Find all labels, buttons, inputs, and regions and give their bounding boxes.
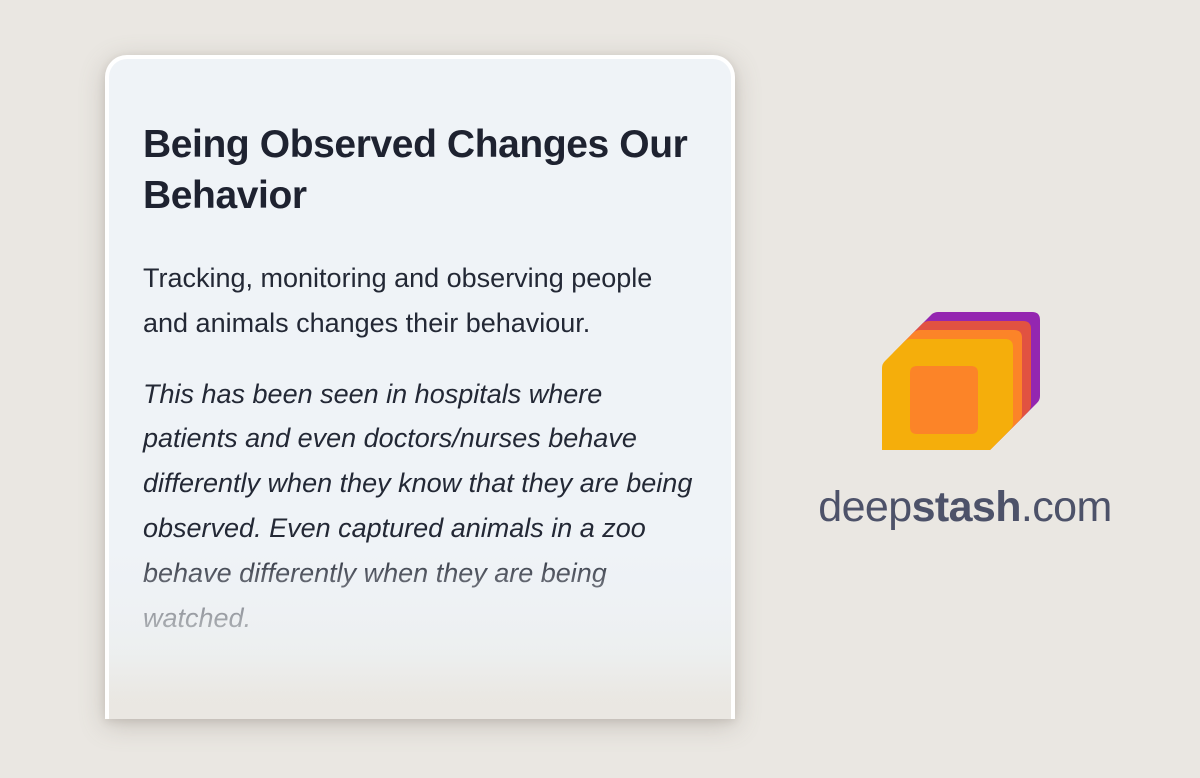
card-summary-text: Tracking, monitoring and observing peopl…	[143, 256, 688, 346]
stash-card[interactable]: Being Observed Changes Our Behavior Trac…	[105, 55, 735, 719]
card-title: Being Observed Changes Our Behavior	[143, 119, 693, 222]
wordmark-stash: stash	[912, 483, 1021, 531]
brand-block: deepstash.com	[800, 300, 1130, 529]
card-quote-text: This has been seen in hospitals where pa…	[143, 372, 693, 641]
wordmark-tld: .com	[1021, 483, 1112, 531]
card-body: Being Observed Changes Our Behavior Trac…	[109, 59, 731, 719]
brand-wordmark: deepstash.com	[800, 486, 1130, 529]
deepstash-stacked-cube-logo-icon	[881, 300, 1049, 450]
wordmark-deep: deep	[818, 483, 911, 531]
